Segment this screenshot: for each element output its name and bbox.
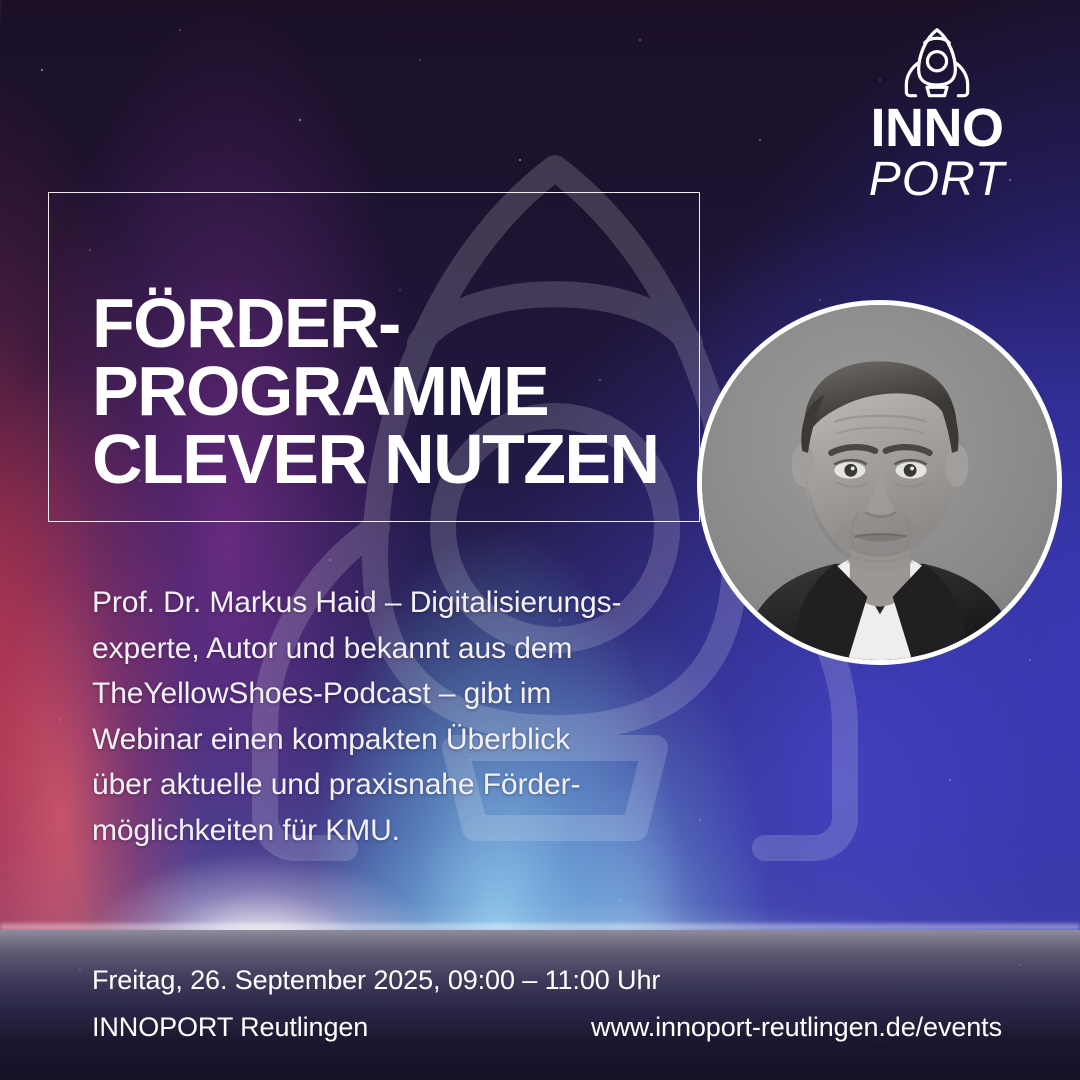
logo-text-inno: INNO bbox=[862, 104, 1012, 154]
avatar bbox=[697, 300, 1062, 665]
innoport-logo[interactable]: INNO PORT bbox=[862, 26, 1012, 204]
footer-band bbox=[0, 930, 1080, 1080]
poster-canvas: INNO PORT FÖRDER- PROGRAMME CLEVER NUTZE… bbox=[0, 0, 1080, 1080]
rocket-icon bbox=[898, 26, 976, 98]
logo-text-port: PORT bbox=[862, 156, 1012, 204]
description-text: Prof. Dr. Markus Haid – Digitalisierungs… bbox=[92, 580, 692, 854]
page-title: FÖRDER- PROGRAMME CLEVER NUTZEN bbox=[92, 290, 732, 494]
event-url[interactable]: www.innoport-reutlingen.de/events bbox=[591, 1012, 1002, 1043]
event-location: INNOPORT Reutlingen bbox=[92, 1012, 368, 1043]
portrait-markus-haid-image bbox=[702, 305, 1057, 660]
event-datetime: Freitag, 26. September 2025, 09:00 – 11:… bbox=[92, 965, 660, 996]
